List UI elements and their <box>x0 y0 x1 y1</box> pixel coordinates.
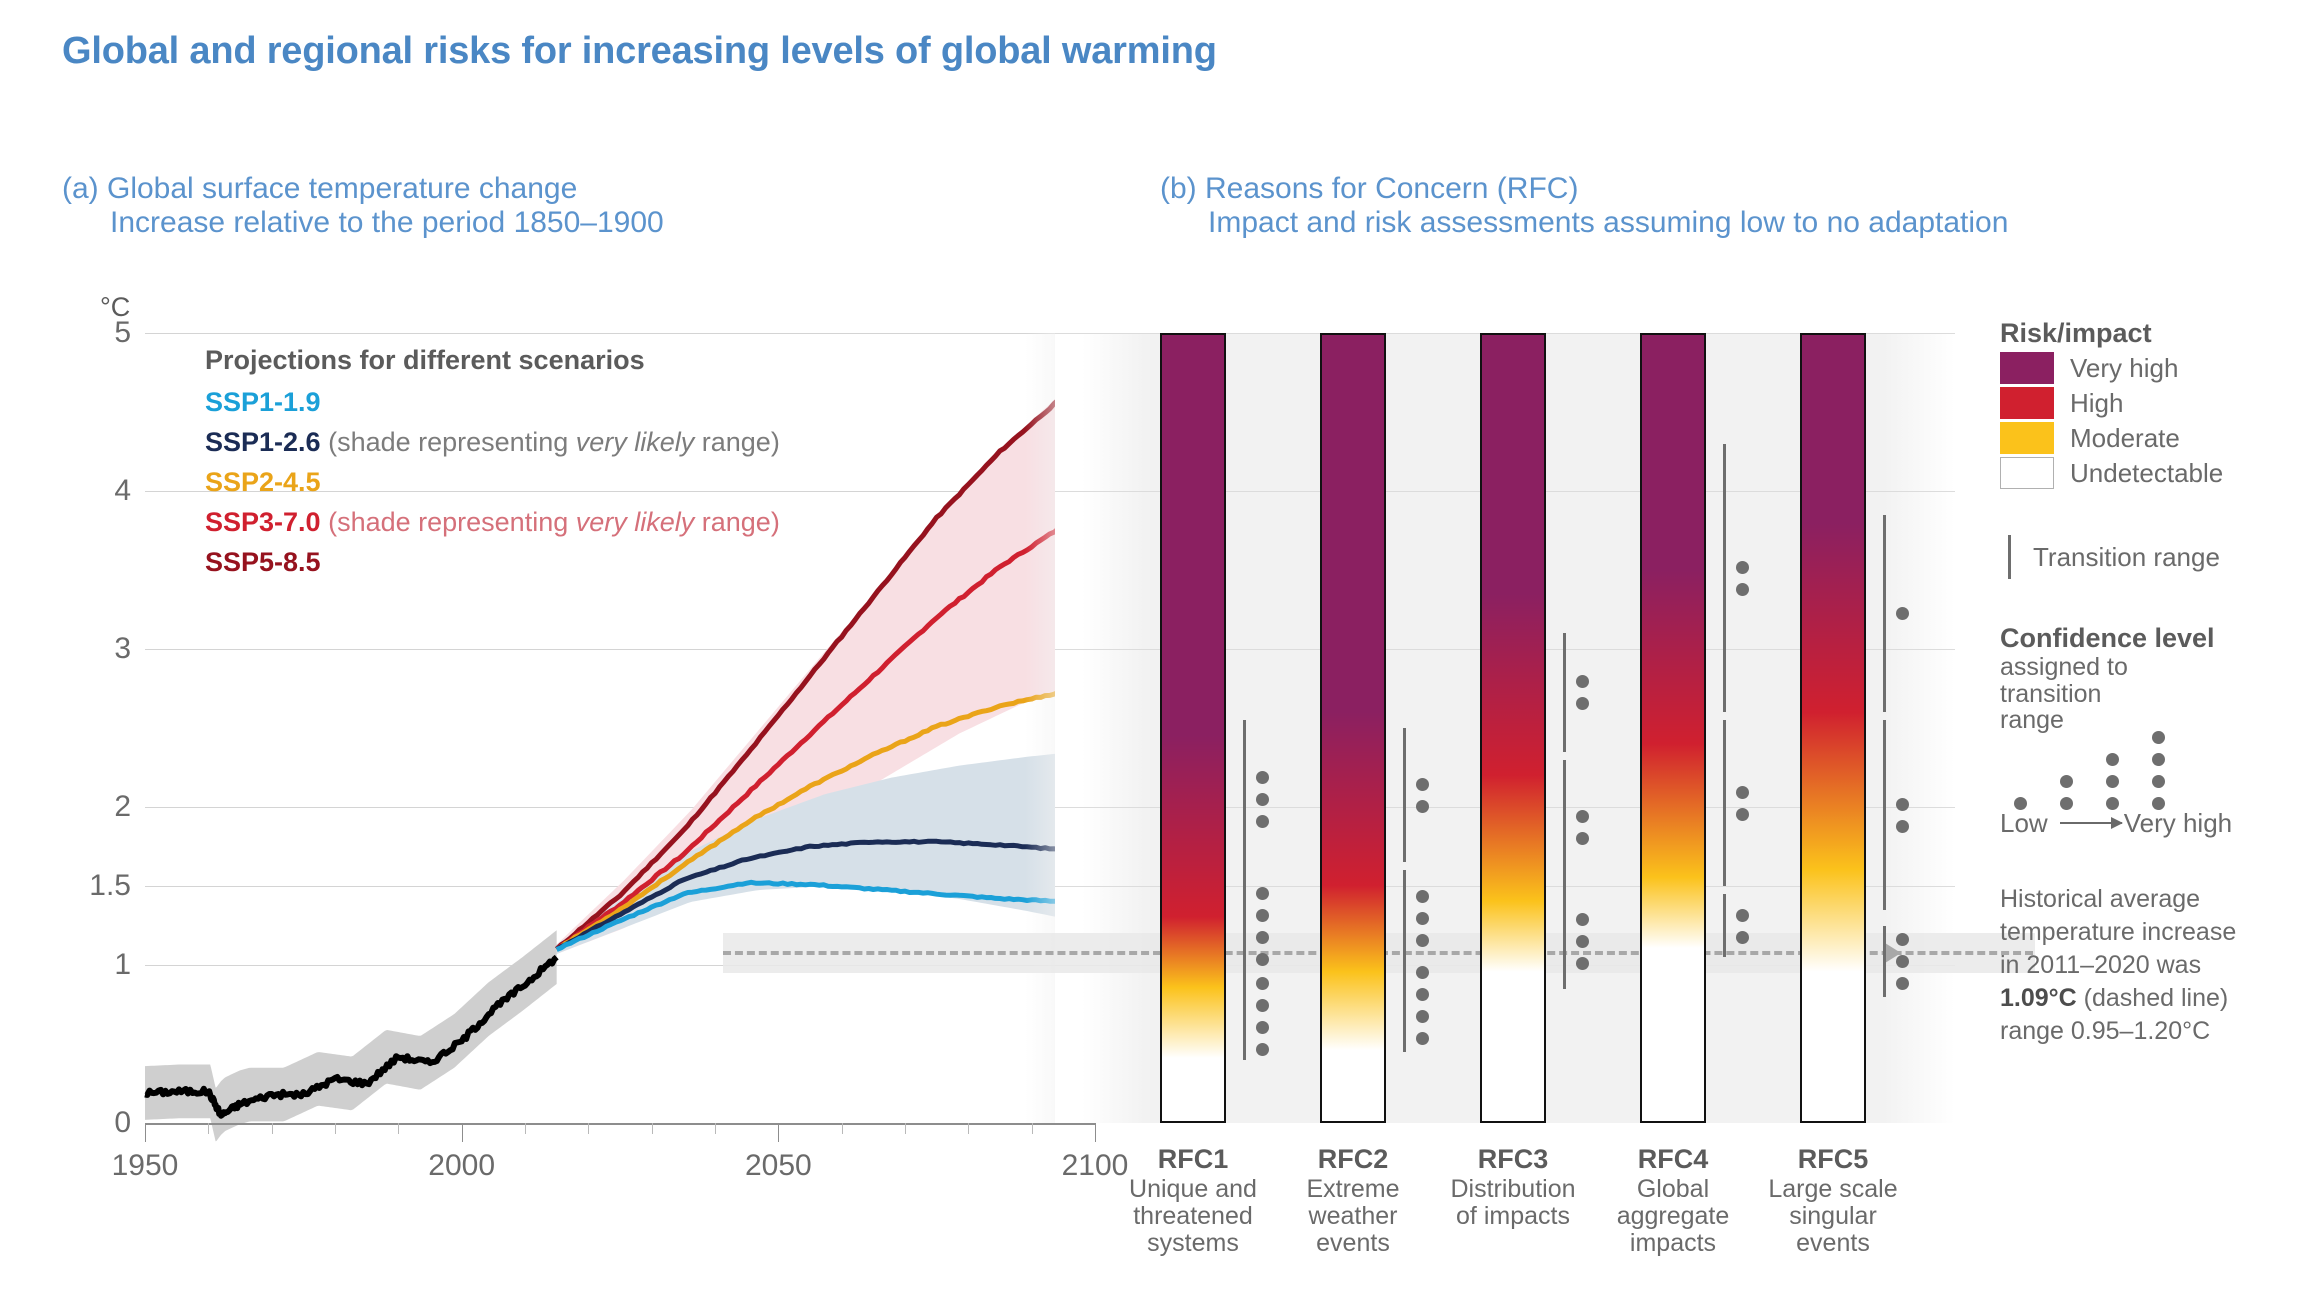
transition-range-bar <box>1403 870 1406 965</box>
scenario-note: (shade representing very likely range) <box>321 507 780 537</box>
transition-range-bar <box>1243 973 1246 1060</box>
rfc-label: RFC3Distributionof impacts <box>1438 1145 1588 1230</box>
confidence-dot <box>1736 909 1749 922</box>
rfc-ember-gradient <box>1482 335 1544 1121</box>
x-axis-minor-tick <box>968 1123 969 1134</box>
scenario-legend-item[interactable]: SSP3-7.0 (shade representing very likely… <box>205 507 825 538</box>
panel-b-heading: (b) Reasons for Concern (RFC) Impact and… <box>1160 172 2220 239</box>
risk-legend-rows: Very highHighModerateUndetectable <box>2000 352 2300 489</box>
x-axis-tick-label: 2050 <box>745 1149 812 1183</box>
y-axis-tick-label: 0 <box>114 1106 131 1140</box>
rfc-code: RFC1 <box>1118 1145 1268 1174</box>
x-axis-line <box>145 1123 1095 1125</box>
confidence-dot-scale <box>2000 736 2300 810</box>
transition-range-legend: Transition range <box>2000 535 2300 579</box>
y-axis-tick-label: 5 <box>114 316 131 350</box>
transition-range-bar <box>1563 760 1566 894</box>
rfc-code: RFC2 <box>1278 1145 1428 1174</box>
scenario-legend-item[interactable]: SSP1-2.6 (shade representing very likely… <box>205 427 825 458</box>
confidence-scale-dot <box>2152 753 2165 766</box>
transition-range-icon <box>2008 535 2011 579</box>
y-axis-tick-label: 4 <box>114 474 131 508</box>
x-axis-minor-tick <box>398 1123 399 1134</box>
transition-range-bar <box>1243 720 1246 878</box>
scenario-code: SSP1-1.9 <box>205 387 321 417</box>
panel-a-heading: (a) Global surface temperature change In… <box>62 172 762 239</box>
rfc-label: RFC4Globalaggregateimpacts <box>1598 1145 1748 1257</box>
x-axis-minor-tick <box>1032 1123 1033 1134</box>
rfc-ember-gradient <box>1802 335 1864 1121</box>
transition-range-bar <box>1403 728 1406 862</box>
rfc-ember-bar[interactable] <box>1800 333 1866 1123</box>
x-axis-minor-tick <box>208 1123 209 1134</box>
risk-level-label: High <box>2070 388 2123 419</box>
rfc-name: Extremeweatherevents <box>1306 1175 1399 1257</box>
transition-range-bar <box>1563 633 1566 752</box>
rfc-label: RFC2Extremeweatherevents <box>1278 1145 1428 1257</box>
x-axis-major-tick <box>778 1123 779 1142</box>
confidence-scale-dot <box>2152 731 2165 744</box>
confidence-dot <box>1416 934 1429 947</box>
rfc-ember-gradient <box>1322 335 1384 1121</box>
rfc-ember-gradient <box>1642 335 1704 1121</box>
confidence-dot <box>1896 977 1909 990</box>
risk-legend-item[interactable]: Very high <box>2000 352 2300 384</box>
panel-a-title-text: (a) Global surface temperature change <box>62 172 577 205</box>
confidence-dot <box>1416 988 1429 1001</box>
confidence-scale-dot <box>2014 797 2027 810</box>
risk-color-swatch <box>2000 422 2054 454</box>
x-axis-tick-label: 1950 <box>112 1149 179 1183</box>
confidence-dot <box>1736 561 1749 574</box>
x-axis-minor-tick <box>588 1123 589 1134</box>
risk-legend-item[interactable]: Moderate <box>2000 422 2300 454</box>
risk-legend-item[interactable]: Undetectable <box>2000 457 2300 489</box>
scenario-legend-title: Projections for different scenarios <box>205 345 825 376</box>
arrow-right-icon <box>2060 822 2122 824</box>
rfc-name: Globalaggregateimpacts <box>1617 1175 1730 1257</box>
confidence-dot <box>1256 931 1269 944</box>
confidence-dot <box>1896 955 1909 968</box>
transition-range-bar <box>1883 926 1886 997</box>
risk-legend-item[interactable]: High <box>2000 387 2300 419</box>
rfc-name: Unique andthreatenedsystems <box>1129 1175 1257 1257</box>
rfc-code: RFC4 <box>1598 1145 1748 1174</box>
confidence-dot <box>1896 820 1909 833</box>
risk-color-swatch <box>2000 352 2054 384</box>
confidence-dot <box>1896 933 1909 946</box>
confidence-dot <box>1416 912 1429 925</box>
confidence-dot <box>1736 583 1749 596</box>
x-axis-major-tick <box>1095 1123 1096 1142</box>
confidence-dot <box>1736 808 1749 821</box>
scenario-code: SSP2-4.5 <box>205 467 321 497</box>
transition-range-bar <box>1723 720 1726 886</box>
rfc-name: Distributionof impacts <box>1450 1175 1575 1230</box>
rfc-burning-embers: RFC1Unique andthreatenedsystemsRFC2Extre… <box>1055 333 1955 1123</box>
confidence-dot <box>1896 798 1909 811</box>
scenario-code: SSP5-8.5 <box>205 547 321 577</box>
scenario-code: SSP1-2.6 <box>205 427 321 457</box>
x-axis-minor-tick <box>842 1123 843 1134</box>
confidence-dot <box>1256 953 1269 966</box>
confidence-dot <box>1416 1032 1429 1045</box>
confidence-dot <box>1736 931 1749 944</box>
x-axis-minor-tick <box>652 1123 653 1134</box>
page-title: Global and regional risks for increasing… <box>62 30 1217 73</box>
panel-b-title-text: (b) Reasons for Concern (RFC) <box>1160 172 1578 205</box>
confidence-scale-dot <box>2060 775 2073 788</box>
transition-range-bar <box>1243 878 1246 973</box>
risk-color-swatch <box>2000 387 2054 419</box>
confidence-scale-dot <box>2106 775 2119 788</box>
scenario-legend-rows: SSP1-1.9SSP1-2.6 (shade representing ver… <box>205 387 825 578</box>
rfc-ember-gradient <box>1162 335 1224 1121</box>
risk-level-label: Very high <box>2070 353 2178 384</box>
confidence-dot <box>1576 810 1589 823</box>
confidence-axis: Low Very high <box>2000 808 2300 839</box>
confidence-dot <box>1416 966 1429 979</box>
rfc-name: Large scalesingularevents <box>1768 1175 1897 1257</box>
panel-a-subtitle-text: Increase relative to the period 1850–190… <box>62 206 762 240</box>
figure-legend: Risk/impact Very highHighModerateUndetec… <box>2000 318 2300 1048</box>
scenario-legend-item[interactable]: SSP5-8.5 <box>205 547 825 578</box>
confidence-dot <box>1576 832 1589 845</box>
confidence-dot <box>1416 1010 1429 1023</box>
x-axis-major-tick <box>462 1123 463 1142</box>
rfc-code: RFC5 <box>1758 1145 1908 1174</box>
y-axis-tick-label: 3 <box>114 632 131 666</box>
rfc-ember-bar[interactable] <box>1160 333 1226 1123</box>
rfc-code: RFC3 <box>1438 1145 1588 1174</box>
x-axis-minor-tick <box>525 1123 526 1134</box>
confidence-dot <box>1416 890 1429 903</box>
rfc-ember-bar[interactable] <box>1640 333 1706 1123</box>
y-axis-tick-label: 2 <box>114 790 131 824</box>
rfc-label: RFC5Large scalesingularevents <box>1758 1145 1908 1257</box>
confidence-low-label: Low <box>2000 808 2048 839</box>
transition-range-bar <box>1403 957 1406 1052</box>
confidence-high-label: Very high <box>2124 808 2232 839</box>
y-axis-tick-label: 1 <box>114 948 131 982</box>
transition-range-bar <box>1723 444 1726 713</box>
x-axis-minor-tick <box>905 1123 906 1134</box>
risk-color-swatch <box>2000 457 2054 489</box>
confidence-dot <box>1256 815 1269 828</box>
historical-very-likely-band <box>145 930 557 1141</box>
confidence-dot <box>1256 771 1269 784</box>
transition-range-bar <box>1883 515 1886 713</box>
historical-value: 1.09°C <box>2000 984 2077 1012</box>
confidence-dot <box>1256 793 1269 806</box>
confidence-dot <box>1736 786 1749 799</box>
rfc-ember-bar[interactable] <box>1480 333 1546 1123</box>
risk-level-label: Undetectable <box>2070 458 2223 489</box>
x-axis-tick-label: 2000 <box>428 1149 495 1183</box>
x-axis-minor-tick <box>272 1123 273 1134</box>
confidence-legend-title: Confidence level <box>2000 623 2300 654</box>
confidence-scale-dot <box>2106 753 2119 766</box>
scenario-legend-item[interactable]: SSP1-1.9 <box>205 387 825 418</box>
panel-b-subtitle-text: Impact and risk assessments assuming low… <box>1160 206 2220 240</box>
risk-level-label: Moderate <box>2070 423 2180 454</box>
transition-range-bar <box>1883 720 1886 910</box>
x-axis-minor-tick <box>335 1123 336 1134</box>
confidence-scale-dot <box>2152 775 2165 788</box>
rfc-label: RFC1Unique andthreatenedsystems <box>1118 1145 1268 1257</box>
transition-range-bar <box>1563 894 1566 989</box>
confidence-scale-dot <box>2106 797 2119 810</box>
scenario-legend-item[interactable]: SSP2-4.5 <box>205 467 825 498</box>
x-axis-minor-tick <box>715 1123 716 1134</box>
rfc-ember-bar[interactable] <box>1320 333 1386 1123</box>
transition-range-label: Transition range <box>2033 542 2220 573</box>
x-axis-major-tick <box>145 1123 146 1142</box>
confidence-scale-dot <box>2152 797 2165 810</box>
risk-legend-title: Risk/impact <box>2000 318 2300 349</box>
y-axis-tick-label: 1.5 <box>89 869 131 903</box>
confidence-legend-subtitle: assigned totransitionrange <box>2000 654 2300 734</box>
scenario-note: (shade representing very likely range) <box>321 427 780 457</box>
confidence-dot <box>1256 887 1269 900</box>
transition-range-bar <box>1723 894 1726 957</box>
scenario-legend: Projections for different scenarios SSP1… <box>205 345 825 587</box>
confidence-scale-dot <box>2060 797 2073 810</box>
scenario-code: SSP3-7.0 <box>205 507 321 537</box>
historical-average-note: Historical averagetemperature increasein… <box>2000 883 2300 1048</box>
confidence-dot <box>1256 909 1269 922</box>
